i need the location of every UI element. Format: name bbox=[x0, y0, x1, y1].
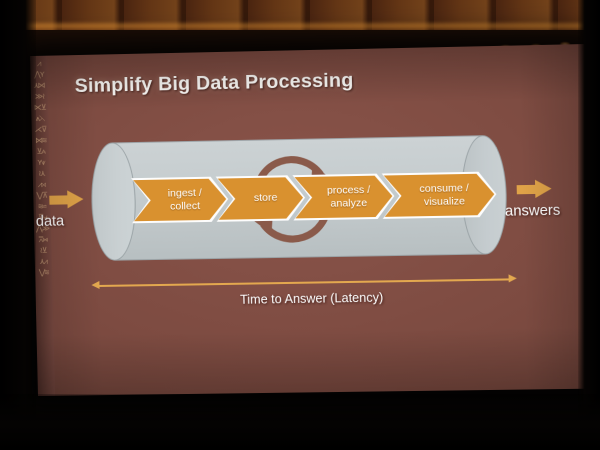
latency-arrow-right-head bbox=[509, 274, 517, 282]
pipeline-stages: ingest / collectstoreprocess / analyzeco… bbox=[131, 172, 489, 224]
room-darkness-bottom bbox=[0, 394, 600, 450]
stage-label: process / analyze bbox=[317, 184, 371, 210]
photo-scene: ⩘ ⋀⋎ ⋏⋈ ≫≀ ⋉⊻ ⩚⋋ ⋌⊽ ⋈≋ ⊻⩜ ⋎⩛ ≀⋏ ⩘⋊ ⋁⊼ ≋⋍… bbox=[0, 0, 600, 450]
room-darkness-left bbox=[0, 0, 36, 450]
stage-chevron-fill: ingest / collect bbox=[133, 178, 227, 221]
arrow-head bbox=[535, 179, 552, 198]
pipeline-stage-store: store bbox=[216, 175, 306, 222]
pipeline-stage-process-analyze: process / analyze bbox=[292, 173, 395, 220]
projection-screen-wrapper: ⩘ ⋀⋎ ⋏⋈ ≫≀ ⋉⊻ ⩚⋋ ⋌⊽ ⋈≋ ⊻⩜ ⋎⩛ ≀⋏ ⩘⋊ ⋁⊼ ≋⋍… bbox=[0, 0, 600, 450]
stage-chevron-fill: store bbox=[218, 177, 304, 220]
processing-cylinder: ingest / collectstoreprocess / analyzeco… bbox=[90, 135, 508, 261]
room-darkness-right bbox=[578, 0, 600, 450]
projection-screen: ⩘ ⋀⋎ ⋏⋈ ≫≀ ⋉⊻ ⩚⋋ ⋌⊽ ⋈≋ ⊻⩜ ⋎⩛ ≀⋏ ⩘⋊ ⋁⊼ ≋⋍… bbox=[30, 44, 593, 396]
stage-label: consume / visualize bbox=[409, 182, 469, 208]
answers-output-label: answers bbox=[505, 203, 561, 220]
data-input-arrow bbox=[49, 190, 83, 210]
stage-chevron-fill: process / analyze bbox=[294, 175, 392, 218]
pipeline-stage-consume-visualize: consume / visualize bbox=[382, 171, 497, 219]
stage-chevron-fill: consume / visualize bbox=[384, 173, 495, 216]
stage-label: ingest / collect bbox=[158, 187, 203, 213]
arrow-head bbox=[67, 190, 83, 208]
stage-label: store bbox=[244, 192, 278, 205]
answers-output-arrow bbox=[517, 179, 552, 199]
data-input-label: data bbox=[36, 213, 65, 229]
pipeline-stage-ingest-collect: ingest / collect bbox=[131, 176, 229, 223]
